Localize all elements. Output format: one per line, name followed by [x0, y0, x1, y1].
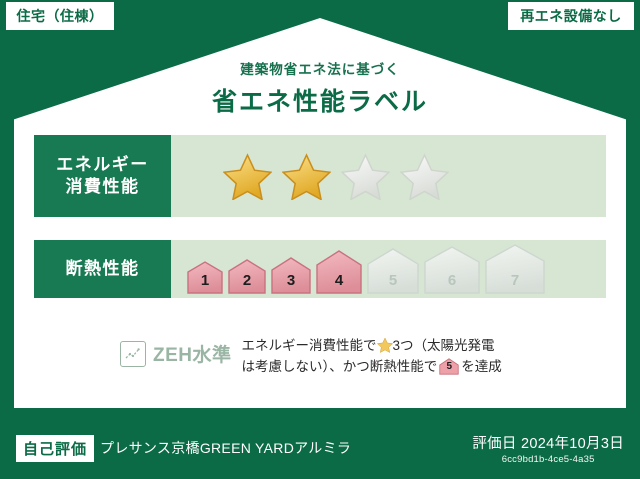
housing-type-tag: 住宅（住棟） [6, 2, 114, 30]
title-main: 省エネ性能ラベル [0, 82, 640, 118]
insulation-level-achieved: 4 [316, 250, 362, 294]
star-empty-icon [400, 153, 449, 200]
insulation-performance-label: 断熱性能 [34, 240, 171, 298]
insulation-level-scale: 1234567 [171, 244, 545, 294]
insulation-level-number: 7 [485, 272, 545, 289]
insulation-level-achieved: 2 [228, 259, 266, 294]
energy-label-line1: エネルギー [56, 154, 149, 176]
insulation-level-number: 3 [271, 272, 311, 289]
zeh-desc-part2: 3つ（太陽光発電 [393, 338, 495, 353]
insulation-level-number: 5 [367, 272, 419, 289]
insulation-level-achieved: 1 [187, 261, 223, 294]
label-title: 建築物省エネ法に基づく 省エネ性能ラベル [0, 58, 640, 118]
insulation-label-line1: 断熱性能 [66, 258, 140, 280]
zeh-badge: ZEH水準 [120, 330, 232, 367]
evaluation-meta: 評価日 2024年10月3日 6cc9bd1b-4ce5-4a35 [472, 432, 624, 465]
insulation-performance-row: 断熱性能 1234567 [34, 240, 606, 298]
insulation-badge-number: 5 [439, 359, 459, 375]
insulation-level-number: 1 [187, 272, 223, 289]
property-name: プレサンス京橋GREEN YARDアルミラ [100, 438, 351, 458]
zeh-description: エネルギー消費性能で 3つ（太陽光発電 は考慮しない）、かつ断熱性能で 5 を達… [242, 330, 502, 378]
zeh-note: ZEH水準 エネルギー消費性能で 3つ（太陽光発電 は考慮しない）、かつ断熱性能… [120, 330, 560, 378]
label-footer: 自己評価 プレサンス京橋GREEN YARDアルミラ 評価日 2024年10月3… [0, 417, 640, 479]
self-evaluation-badge: 自己評価 [16, 435, 94, 462]
label-canvas: 住宅（住棟） 再エネ設備なし 建築物省エネ法に基づく 省エネ性能ラベル エネルギ… [0, 0, 640, 479]
star-icon [377, 337, 393, 353]
energy-performance-label: エネルギー 消費性能 [34, 135, 171, 217]
insulation-level-number: 6 [424, 272, 480, 289]
insulation-level-empty: 5 [367, 248, 419, 294]
zeh-desc-part4: を達成 [461, 359, 502, 374]
insulation-performance-value: 1234567 [171, 240, 606, 298]
zeh-desc-part3: は考慮しない）、かつ断熱性能で [242, 359, 438, 374]
energy-label-line2: 消費性能 [66, 176, 140, 198]
insulation-level-number: 4 [316, 272, 362, 289]
zeh-label: ZEH水準 [153, 340, 232, 367]
evaluation-date: 評価日 2024年10月3日 [472, 432, 624, 453]
title-subtitle: 建築物省エネ法に基づく [0, 58, 640, 78]
energy-performance-row: エネルギー 消費性能 [34, 135, 606, 217]
zeh-desc-part1: エネルギー消費性能で [242, 338, 377, 353]
trend-chart-icon [120, 341, 146, 367]
energy-performance-value [171, 135, 606, 217]
insulation-level-number: 2 [228, 272, 266, 289]
star-rating [171, 153, 449, 200]
insulation-level-empty: 7 [485, 244, 545, 294]
star-empty-icon [341, 153, 390, 200]
insulation-level-achieved: 3 [271, 257, 311, 294]
evaluation-id: 6cc9bd1b-4ce5-4a35 [472, 454, 624, 465]
renewable-equipment-tag: 再エネ設備なし [508, 2, 634, 30]
insulation-level-empty: 6 [424, 246, 480, 294]
insulation-badge-icon: 5 [439, 358, 459, 375]
star-filled-icon [282, 153, 331, 200]
star-filled-icon [223, 153, 272, 200]
